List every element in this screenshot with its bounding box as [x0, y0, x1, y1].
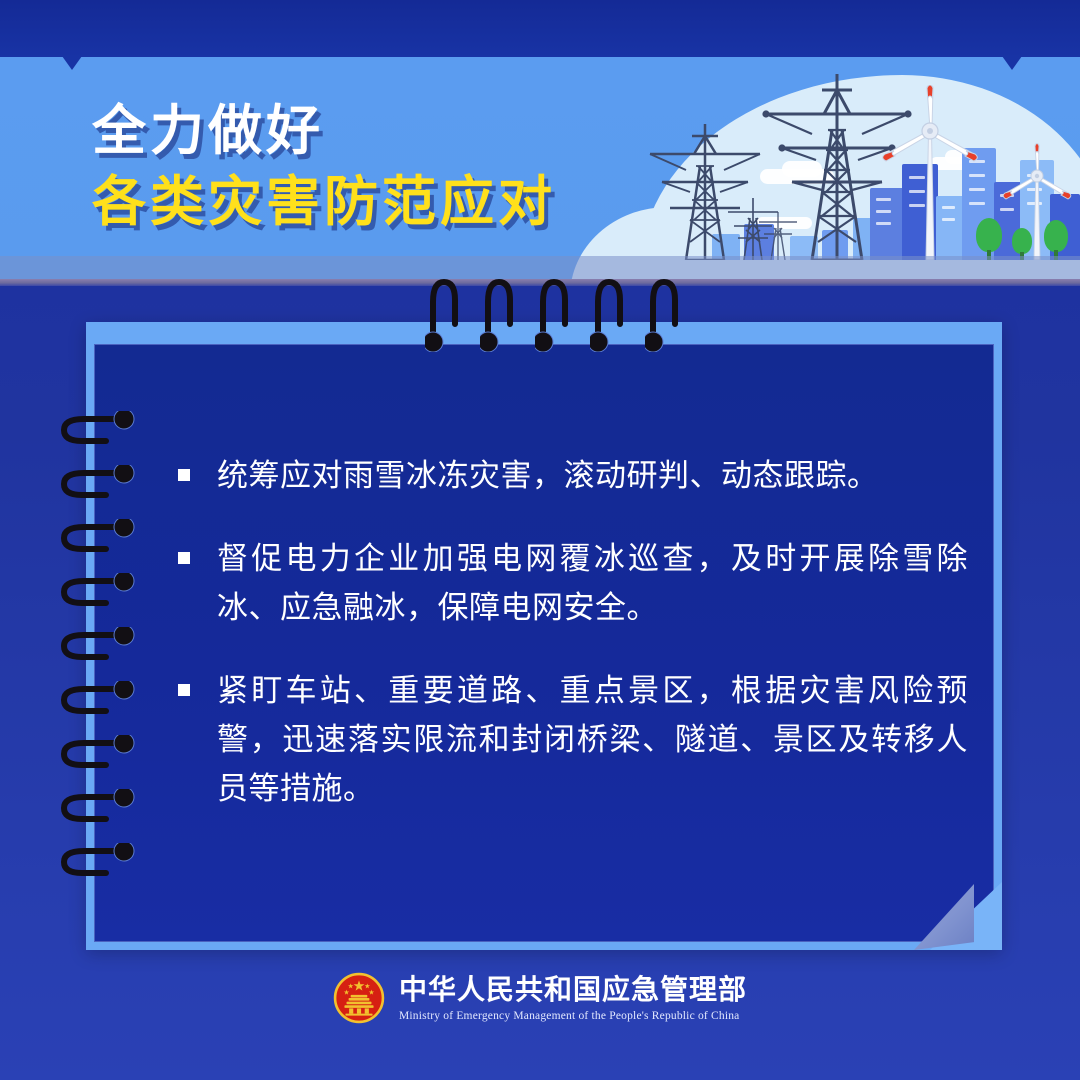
spiral-ring	[58, 681, 136, 715]
measures-list: 统筹应对雨雪冰冻灾害，滚动研判、动态跟踪。 督促电力企业加强电网覆冰巡查，及时开…	[178, 452, 968, 848]
spiral-ring	[58, 843, 136, 877]
list-item: 督促电力企业加强电网覆冰巡查，及时开展除雪除冰、应急融冰，保障电网安全。	[178, 535, 968, 633]
spiral-ring	[58, 573, 136, 607]
list-item: 紧盯车站、重要道路、重点景区，根据灾害风险预警，迅速落实限流和封闭桥梁、隧道、景…	[178, 667, 968, 814]
spiral-ring	[58, 519, 136, 553]
bullet-square-icon	[178, 684, 190, 696]
list-item-text: 紧盯车站、重要道路、重点景区，根据灾害风险预警，迅速落实限流和封闭桥梁、隧道、景…	[217, 667, 968, 814]
ministry-name-en: Ministry of Emergency Management of the …	[399, 1010, 747, 1022]
spiral-ring	[58, 735, 136, 769]
china-national-emblem-icon	[333, 972, 385, 1024]
list-item-text: 督促电力企业加强电网覆冰巡查，及时开展除雪除冰、应急融冰，保障电网安全。	[217, 535, 968, 633]
spiral-ring	[58, 627, 136, 661]
title-line-1: 全力做好	[92, 96, 556, 167]
spiral-ring	[58, 411, 136, 445]
footer-text-block: 中华人民共和国应急管理部 Ministry of Emergency Manag…	[399, 974, 747, 1021]
bullet-square-icon	[178, 469, 190, 481]
poster-title: 全力做好 各类灾害防范应对	[92, 96, 556, 239]
list-item: 统筹应对雨雪冰冻灾害，滚动研判、动态跟踪。	[178, 452, 968, 501]
bullet-square-icon	[178, 552, 190, 564]
spiral-ring	[58, 465, 136, 499]
list-item-text: 统筹应对雨雪冰冻灾害，滚动研判、动态跟踪。	[217, 452, 968, 501]
footer: 中华人民共和国应急管理部 Ministry of Emergency Manag…	[0, 972, 1080, 1024]
ministry-name-cn: 中华人民共和国应急管理部	[399, 974, 747, 1006]
title-line-2: 各类灾害防范应对	[92, 167, 556, 238]
poster-root: 全力做好 各类灾害防范应对 统筹应对雨雪冰冻灾害，滚动研判、动态跟踪。 督促电力…	[0, 0, 1080, 1080]
spiral-ring	[58, 789, 136, 823]
